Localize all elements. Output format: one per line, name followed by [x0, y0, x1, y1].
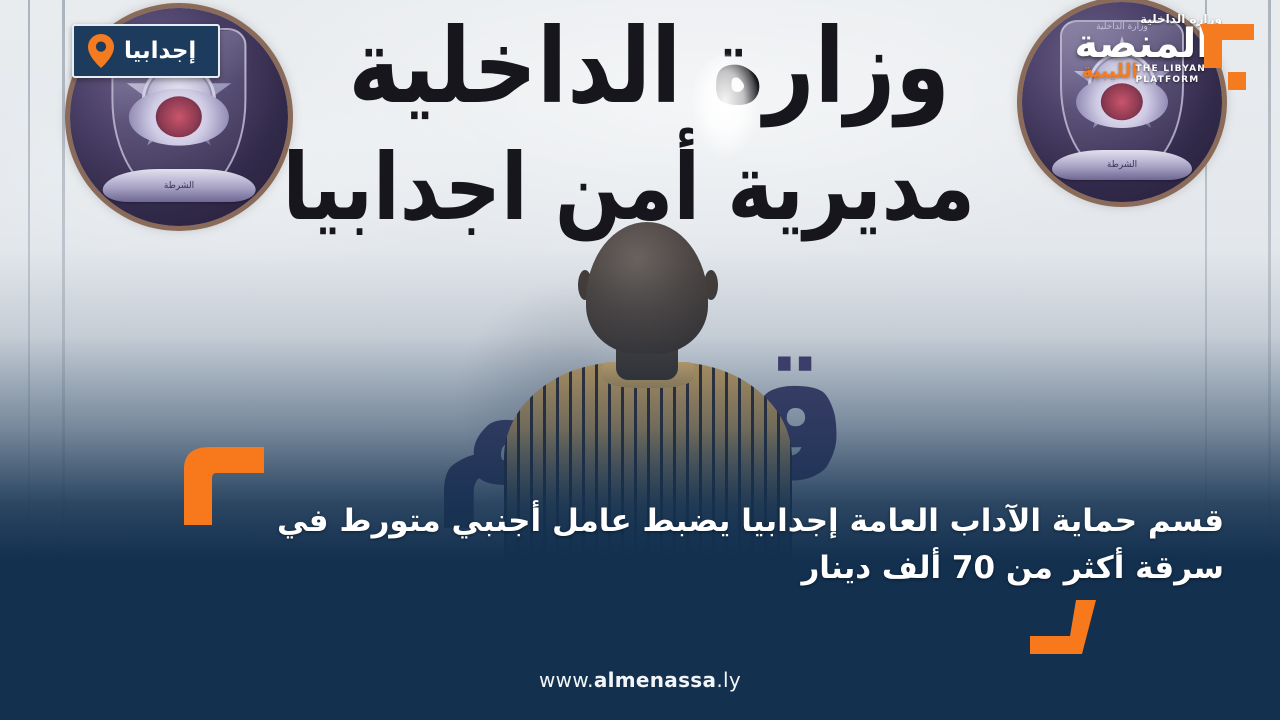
site-url-prefix: www. — [539, 668, 594, 692]
brand-name-secondary: الليبية — [1082, 62, 1138, 81]
emblem-ribbon-text: الشرطة — [103, 181, 256, 191]
emblem-ribbon: الشرطة — [1052, 150, 1192, 180]
site-url-brand: almenassa — [594, 668, 717, 692]
site-url-suffix: .ly — [716, 668, 741, 692]
orange-corner-icon — [1030, 600, 1096, 654]
brand-name: المنصة — [1074, 24, 1210, 64]
bracket-mark-icon — [1194, 22, 1260, 92]
emblem-eye-icon — [129, 89, 229, 146]
news-card: وزارة الداخلية مديرية أمن اجدابيا قسم وز… — [0, 0, 1280, 720]
headline: قسم حماية الآداب العامة إجدابيا يضبط عام… — [224, 498, 1224, 592]
emblem-ribbon-text: الشرطة — [1052, 160, 1192, 170]
emblem-ribbon: الشرطة — [103, 169, 256, 202]
site-url[interactable]: www.almenassa.ly — [0, 668, 1280, 692]
location-badge[interactable]: إجدابيا — [72, 24, 220, 78]
location-label: إجدابيا — [124, 40, 196, 63]
banner-text-ministry: وزارة الداخلية — [348, 5, 950, 127]
banner-glare — [690, 55, 760, 160]
map-pin-icon — [88, 34, 114, 68]
brand-logo[interactable]: وزارة الداخلية المنصة الليبية THE LIBYAN… — [1036, 8, 1266, 100]
